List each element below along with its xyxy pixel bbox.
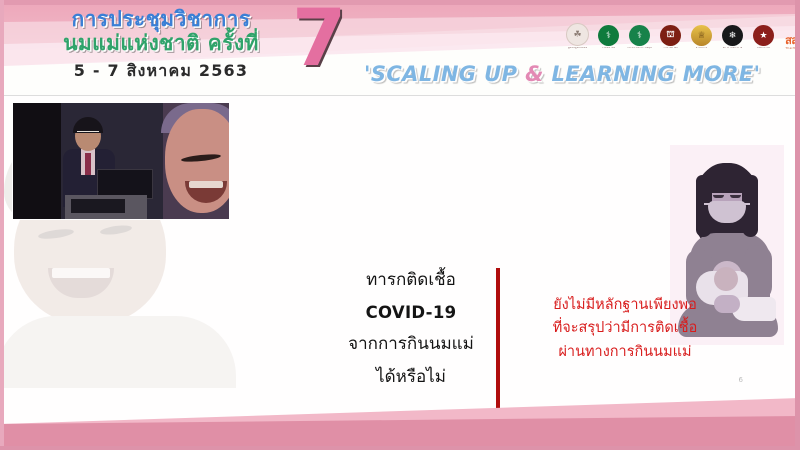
logo-ministry-of-public-health-caption: กรมอนามัย [602, 47, 616, 50]
logo-royal-thai-emblem-caption: สำนักงาน [696, 47, 707, 50]
slide-header-banner: การประชุมวิชาการ นมแม่แห่งชาติ ครั้งที่ … [4, 4, 795, 96]
photo-speaker-glasses [77, 131, 99, 137]
slide-number: 6 [739, 376, 743, 384]
frame-border-left [0, 0, 4, 450]
frame-border-top [0, 0, 800, 5]
logo-thaihealth-subtext: ThaiHealth [785, 46, 795, 50]
logo-thai-pediatric-society: ⛫ ราชวิทยาลัย [657, 20, 684, 50]
illustration-eye-right [730, 195, 741, 198]
logo-department-of-health-caption: กระทรวงสาธารณสุข [627, 47, 652, 50]
logo-ministry-of-public-health: ⚕ กรมอนามัย [595, 20, 622, 50]
question-line-3: จากการกินนมแม่ [330, 328, 492, 361]
sponsor-logos-row: ☘ มูลนิธิศูนย์นมแม่ ⚕ กรมอนามัย ⚕ กระทรว… [564, 20, 795, 50]
illustration-arm-right [744, 245, 772, 301]
slogan-ampersand: & [525, 62, 544, 86]
logo-nursing-council: ❄ สภาการพยาบาล [719, 20, 746, 50]
illustration-eye-left [713, 195, 724, 198]
logo-ministry-of-public-health-icon: ⚕ [598, 25, 619, 46]
logo-nursing-council-icon: ❄ [722, 25, 743, 46]
photo-projected-baby-teeth [189, 181, 223, 188]
conference-title: การประชุมวิชาการ นมแม่แห่งชาติ ครั้งที่ … [26, 6, 296, 84]
question-line-4: ได้หรือไม่ [330, 361, 492, 394]
logo-thaihealth-text: สสส [785, 35, 795, 46]
red-vertical-divider [496, 268, 500, 408]
frame-border-bottom [0, 446, 800, 450]
logo-unicef-thailand-caption: องค์กรร่วม [757, 47, 770, 50]
answer-line-3: ผ่านทางการกินนมแม่ [509, 341, 741, 364]
logo-thai-pediatric-society-icon: ⛫ [660, 25, 681, 46]
logo-royal-thai-emblem-icon: ♕ [691, 25, 712, 46]
logo-thaihealth-sss: สสส ThaiHealth [781, 20, 795, 50]
logo-royal-thai-emblem: ♕ สำนักงาน [688, 20, 715, 50]
slogan-part-2: LEARNING MORE' [544, 62, 761, 86]
question-line-1: ทารกติดเชื้อ [330, 264, 492, 297]
question-line-2: COVID-19 [330, 297, 492, 329]
answer-line-1: ยังไม่มีหลักฐานเพียงพอ [509, 294, 741, 317]
logo-nursing-council-caption: สภาการพยาบาล [723, 47, 743, 50]
watermark-baby-teeth [52, 268, 110, 278]
logo-royal-patronage-icon: ☘ [566, 23, 589, 46]
conference-slogan: 'SCALING UP & LEARNING MORE' [364, 62, 760, 86]
photo-podium-panel [71, 199, 125, 213]
photo-wall-left [13, 103, 61, 219]
speaker-presentation-video[interactable] [12, 102, 230, 220]
answer-line-2: ที่จะสรุปว่ามีการติดเชื้อ [509, 317, 741, 340]
presentation-slide: การประชุมวิชาการ นมแม่แห่งชาติ ครั้งที่ … [0, 0, 800, 450]
logo-department-of-health: ⚕ กระทรวงสาธารณสุข [626, 20, 653, 50]
conference-date: 5 - 7 สิงหาคม 2563 [26, 59, 296, 84]
watermark-baby-body [4, 316, 236, 388]
illustration-baby-head [714, 267, 738, 291]
question-text-block: ทารกติดเชื้อ COVID-19 จากการกินนมแม่ ได้… [330, 264, 492, 394]
conference-title-line-1: การประชุมวิชาการ [26, 6, 296, 32]
slide-body: ทารกติดเชื้อ COVID-19 จากการกินนมแม่ ได้… [4, 96, 795, 446]
logo-department-of-health-icon: ⚕ [629, 25, 650, 46]
conference-title-line-2: นมแม่แห่งชาติ ครั้งที่ [26, 30, 296, 56]
logo-unicef-thailand-icon: ★ [753, 25, 774, 46]
slogan-part-1: 'SCALING UP [364, 62, 525, 86]
photo-speaker-tie [85, 153, 91, 175]
logo-thai-pediatric-society-caption: ราชวิทยาลัย [663, 47, 678, 50]
frame-border-right [795, 0, 800, 450]
answer-text-block: ยังไม่มีหลักฐานเพียงพอ ที่จะสรุปว่ามีการ… [509, 294, 741, 364]
logo-unicef-thailand: ★ องค์กรร่วม [750, 20, 777, 50]
edition-number: 7 [292, 4, 346, 78]
header-divider-line [4, 95, 795, 96]
logo-royal-patronage-caption: มูลนิธิศูนย์นมแม่ [568, 47, 588, 50]
logo-royal-patronage: ☘ มูลนิธิศูนย์นมแม่ [564, 20, 591, 50]
